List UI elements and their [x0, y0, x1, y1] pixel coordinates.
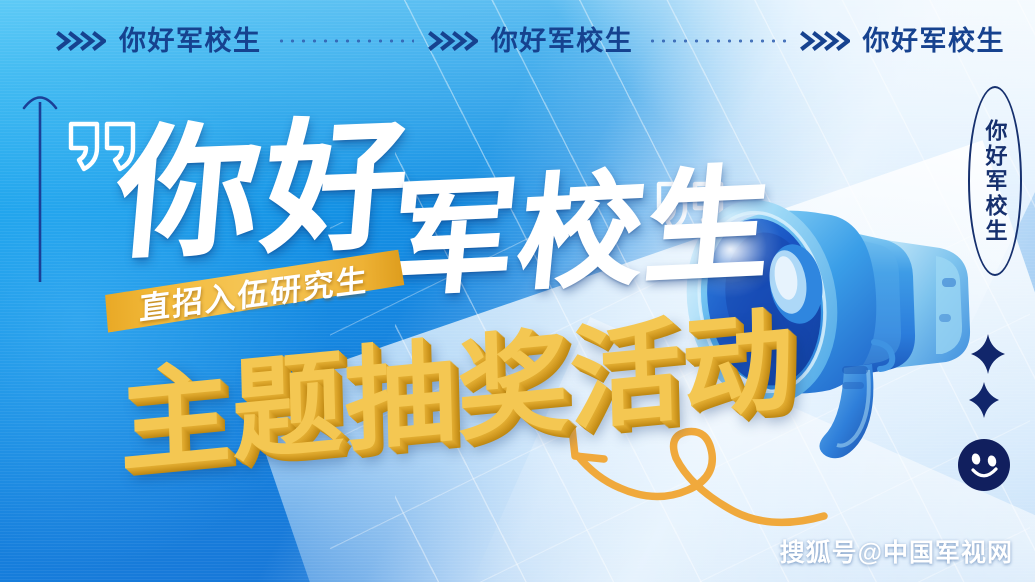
top-marquee-item-3: 你好军校生 [800, 28, 1006, 55]
smiley-face-icon [957, 438, 1011, 497]
top-marquee-strip: 你好军校生 你好军校生 [0, 18, 1035, 64]
watermark-label: 搜狐号@中国军视网 [780, 533, 1013, 569]
top-marquee-label: 你好军校生 [863, 28, 1006, 55]
sparkle-star-icon [969, 382, 999, 423]
top-marquee-item-2: 你好军校生 [428, 28, 634, 55]
promo-banner: 你好军校生 你好军校生 [0, 0, 1035, 582]
top-marquee-item-1: 你好军校生 [56, 28, 262, 55]
sparkle-star-icon [971, 334, 1005, 379]
top-marquee-label: 你好军校生 [119, 28, 262, 55]
side-badge-label: 你好军校生 [983, 119, 1006, 244]
open-quote-icon [66, 118, 140, 185]
arrow-up-icon [20, 86, 60, 291]
dotted-line-divider [647, 39, 785, 43]
top-marquee-label: 你好军校生 [491, 28, 634, 55]
double-chevron-right-icon [56, 29, 106, 53]
double-chevron-right-icon [428, 29, 478, 53]
dotted-line-divider [276, 39, 414, 43]
side-vertical-badge: 你好军校生 [968, 86, 1022, 276]
double-chevron-right-icon [800, 29, 850, 53]
